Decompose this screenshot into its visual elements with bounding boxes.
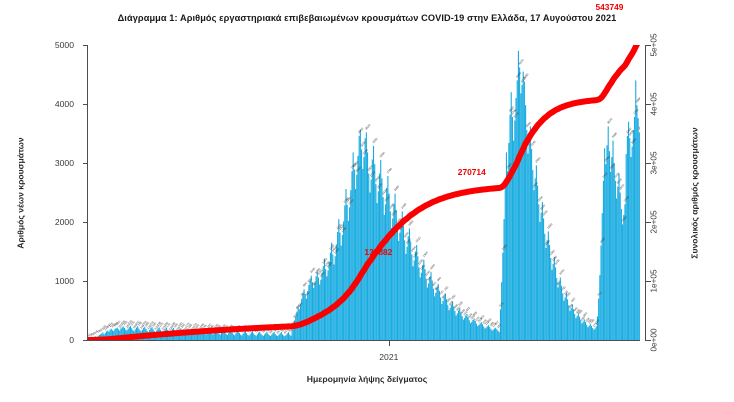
plot-area: 1218356470961301201601751651852101602152… [88, 45, 640, 340]
y-axis-left-tick-label: 2000 [22, 217, 74, 227]
bar [402, 211, 403, 340]
bar [397, 226, 398, 340]
bar [341, 246, 342, 340]
bar [418, 267, 419, 340]
bar-value-label: 3100 [362, 148, 370, 156]
y-axis-left-tick-label: 5000 [22, 40, 74, 50]
bar [357, 156, 358, 340]
bar [611, 157, 612, 340]
bar-value-label: 3290 [371, 136, 379, 144]
bar [338, 219, 339, 340]
bar-value-label: 535 [458, 300, 464, 307]
bar [624, 204, 625, 340]
bar [622, 224, 623, 340]
bar [393, 204, 394, 340]
bar-value-label: 600 [570, 296, 576, 303]
bar [628, 122, 629, 340]
bar [542, 202, 543, 340]
bar [512, 117, 513, 340]
bar [403, 226, 404, 340]
bar-value-label: 650 [450, 293, 456, 300]
bar-value-label: 1150 [429, 263, 436, 271]
bar [384, 215, 385, 340]
y-axis-label-left: Αριθμός νέων κρουσμάτων [14, 45, 28, 340]
bar [440, 298, 441, 340]
bar [460, 312, 461, 340]
bar [569, 311, 570, 340]
bar [559, 283, 560, 340]
bar [454, 311, 455, 340]
bar [305, 294, 306, 340]
bar [538, 204, 539, 340]
bar [411, 254, 412, 340]
bar [539, 222, 540, 340]
bar [366, 132, 367, 340]
bar [521, 85, 522, 340]
bar [577, 316, 578, 340]
bar-group [88, 51, 640, 340]
bar [615, 181, 616, 340]
y-axis-right [645, 45, 652, 340]
bar-value-label: 1610 [414, 236, 422, 244]
bar [307, 291, 308, 340]
bar [480, 323, 481, 340]
x-axis-spine [88, 340, 640, 341]
bar-value-label: 790 [443, 285, 449, 292]
x-axis-tick [389, 340, 390, 346]
bar [327, 270, 328, 340]
bar [434, 296, 435, 340]
cumulative-value-annotation: 543749 [595, 2, 623, 12]
bar [602, 213, 603, 340]
bar [635, 80, 636, 340]
bar-value-label: 2300 [623, 195, 631, 203]
y-axis-left-tick-label: 0 [22, 335, 74, 345]
x-axis-tick-label: 2021 [379, 352, 398, 362]
bar [360, 130, 361, 340]
bar [580, 320, 581, 340]
bar [355, 189, 356, 340]
bar-value-label: 3050 [379, 151, 387, 159]
bar-value-label: 1360 [422, 250, 430, 258]
bar [468, 317, 469, 340]
bar [426, 279, 427, 340]
bar [565, 298, 566, 340]
bar [496, 329, 497, 340]
bar-value-label: 1580 [405, 237, 413, 245]
bar [633, 130, 634, 340]
bar-value-label: 3780 [632, 108, 640, 116]
bar [245, 331, 246, 340]
bar [583, 322, 584, 340]
bar [603, 181, 604, 340]
bar [415, 252, 416, 341]
bar [456, 316, 457, 340]
bar [424, 269, 425, 340]
cumulative-value-annotation: 135882 [364, 247, 392, 257]
bar [350, 190, 351, 340]
bar [586, 325, 587, 340]
bar [457, 313, 458, 340]
bar-value-label: 2300 [383, 195, 391, 203]
bar [272, 333, 273, 340]
bar [417, 256, 418, 340]
bar [502, 253, 503, 340]
bar [489, 327, 490, 340]
bar [490, 329, 491, 340]
bar [310, 280, 311, 340]
bar [514, 121, 515, 340]
bar [311, 276, 312, 340]
bar [377, 203, 378, 340]
bar [405, 254, 406, 340]
bar [343, 221, 344, 340]
bar [481, 322, 482, 340]
bar [488, 325, 489, 340]
bar [446, 299, 447, 340]
bar [317, 272, 318, 340]
chart-title: Διάγραμμα 1: Αριθμός εργαστηριακά επιβεβ… [0, 13, 734, 23]
bar [554, 257, 555, 340]
bar [409, 228, 410, 340]
bar [478, 325, 479, 340]
bar [563, 301, 564, 340]
bar [561, 286, 562, 340]
bar [304, 289, 305, 340]
bar [347, 205, 348, 340]
bar-value-label: 3520 [364, 123, 372, 131]
bar [204, 333, 205, 340]
bar [609, 151, 610, 340]
bar [465, 316, 466, 340]
x-axis-label: Ημερομηνία λήψης δείγματος [0, 374, 734, 384]
bar [591, 326, 592, 340]
bar [614, 163, 615, 340]
bar [556, 278, 557, 340]
bar [573, 309, 574, 340]
bar [475, 321, 476, 340]
bar [447, 305, 448, 340]
bar [429, 277, 430, 340]
bar [493, 330, 494, 340]
bar [599, 275, 600, 340]
bar [423, 260, 424, 340]
chart-root: Διάγραμμα 1: Αριθμός εργαστηριακά επιβεβ… [0, 0, 734, 402]
bar [325, 269, 326, 340]
bar [590, 324, 591, 340]
bar [232, 333, 233, 340]
bar [318, 277, 319, 340]
bar [612, 141, 613, 340]
bar [571, 308, 572, 340]
bar [225, 332, 226, 340]
plot-inner: 1218356470961301201601751651852101602152… [88, 45, 640, 340]
bar [544, 234, 545, 340]
bar-value-label: 1600 [599, 236, 607, 244]
bar [505, 184, 506, 340]
bar [555, 267, 556, 340]
bar [398, 241, 399, 340]
bar [385, 204, 386, 340]
bar [391, 228, 392, 340]
bar [228, 333, 229, 340]
bar [524, 82, 525, 340]
bar [420, 277, 421, 340]
bar [592, 328, 593, 340]
bar [444, 297, 445, 340]
bar [416, 245, 417, 340]
bar [395, 194, 396, 340]
bar [332, 254, 333, 340]
bar [463, 320, 464, 340]
bar [386, 188, 387, 340]
bar [229, 331, 230, 340]
bar [519, 67, 520, 340]
bar [472, 320, 473, 340]
bar-value-label: 1060 [558, 268, 566, 276]
bar [486, 328, 487, 340]
bar [221, 333, 222, 340]
bar-value-label: 2520 [376, 182, 384, 190]
bar [531, 149, 532, 340]
bar [258, 333, 259, 340]
bar [471, 322, 472, 340]
bar [450, 308, 451, 340]
bar [399, 233, 400, 340]
bar [324, 259, 325, 340]
bar [638, 118, 639, 340]
bar [515, 98, 516, 340]
bar [578, 313, 579, 340]
bar [442, 301, 443, 340]
bar-value-label: 350 [582, 311, 588, 318]
bar [548, 231, 549, 340]
bar [353, 152, 354, 340]
bar [336, 244, 337, 340]
bar [251, 332, 252, 340]
bar-value-label: 3280 [630, 137, 638, 145]
bar [281, 332, 282, 340]
bar [504, 219, 505, 340]
bar [383, 197, 384, 340]
bar [551, 270, 552, 340]
bar [553, 264, 554, 340]
bar [507, 171, 508, 340]
bar [466, 314, 467, 340]
bar [329, 262, 330, 340]
bar [239, 333, 240, 340]
bar [316, 276, 317, 340]
bar [630, 157, 631, 340]
bar [345, 189, 346, 340]
bar [494, 329, 495, 340]
bar [562, 293, 563, 340]
bar [421, 273, 422, 340]
bar [361, 149, 362, 340]
cumulative-value-annotation: 270714 [458, 167, 486, 177]
bar [354, 169, 355, 340]
bar-value-label: 2780 [386, 167, 394, 175]
bar [314, 283, 315, 340]
bar [585, 322, 586, 340]
bar [487, 326, 488, 340]
bar [545, 248, 546, 340]
bar [214, 333, 215, 340]
bar-value-label: 950 [436, 276, 442, 283]
bar [530, 126, 531, 340]
bar [428, 283, 429, 340]
bar [339, 233, 340, 340]
bar [484, 329, 485, 341]
bar-value-label: 3380 [611, 131, 619, 139]
bar [533, 190, 534, 340]
bar-value-label: 1480 [501, 243, 509, 251]
bar [389, 194, 390, 340]
bar [492, 331, 493, 341]
bar [575, 318, 576, 340]
bar [529, 141, 530, 340]
bar [517, 80, 518, 340]
bar [617, 187, 618, 340]
y-axis-left-tick-label: 1000 [22, 276, 74, 286]
bar [422, 265, 423, 340]
bar [252, 331, 253, 340]
bar [610, 172, 611, 340]
bar [365, 138, 366, 340]
bar [587, 327, 588, 340]
bar [462, 316, 463, 340]
bar [483, 327, 484, 340]
bar [412, 266, 413, 340]
bar [439, 291, 440, 340]
bar [623, 215, 624, 340]
bar-value-label: 442 [465, 306, 471, 313]
bar [629, 138, 630, 340]
bar [427, 287, 428, 340]
bar [543, 218, 544, 340]
bar [453, 306, 454, 340]
bar [535, 178, 536, 340]
bar [378, 191, 379, 340]
y-axis-left-tick-label: 4000 [22, 99, 74, 109]
bar [313, 288, 314, 340]
bar-value-label: 3620 [606, 117, 614, 125]
x-axis [88, 340, 640, 348]
bar-value-label: 2180 [400, 202, 408, 210]
bar [404, 240, 405, 340]
bar [568, 305, 569, 340]
bar [274, 332, 275, 340]
bar [236, 332, 237, 340]
bar [498, 331, 499, 340]
bar [331, 243, 332, 340]
bar [435, 293, 436, 340]
bar [474, 318, 475, 340]
bar [523, 72, 524, 340]
bar [639, 132, 640, 340]
bar [342, 235, 343, 340]
bar [527, 154, 528, 340]
bar [441, 304, 442, 340]
bar [482, 324, 483, 340]
bar [408, 236, 409, 340]
bar [287, 333, 288, 340]
bar [618, 174, 619, 340]
bar [550, 258, 551, 340]
bar [469, 320, 470, 340]
bar [407, 247, 408, 340]
bar [381, 178, 382, 340]
bar [495, 328, 496, 340]
bar [596, 326, 597, 340]
bar [433, 289, 434, 340]
bar [560, 277, 561, 340]
bar [627, 136, 628, 340]
y-axis-right-spine [645, 45, 646, 340]
bar [259, 331, 260, 340]
bar [520, 93, 521, 340]
bar [501, 282, 502, 340]
bar [557, 287, 558, 340]
bar [621, 209, 622, 340]
bar [532, 170, 533, 340]
bar [470, 323, 471, 340]
bar [526, 130, 527, 340]
bar [246, 333, 247, 340]
bar [351, 171, 352, 340]
bar [632, 146, 633, 340]
bar [595, 329, 596, 341]
bar-value-label: 2700 [601, 171, 609, 179]
bar [280, 333, 281, 340]
bar [244, 332, 245, 340]
bar [430, 272, 431, 340]
bar [499, 332, 500, 340]
bar [266, 332, 267, 340]
bar [320, 280, 321, 340]
bar [362, 169, 363, 340]
bar [518, 51, 519, 340]
bar [566, 293, 567, 340]
bar [458, 311, 459, 341]
chart-canvas: 1218356470961301201601751651852101602152… [88, 45, 640, 340]
bar [401, 220, 402, 340]
bar [616, 198, 617, 340]
bar [335, 256, 336, 340]
bar [312, 282, 313, 340]
bar [626, 154, 627, 340]
y-axis-left-tick-label: 3000 [22, 158, 74, 168]
bar [302, 293, 303, 340]
bar [451, 304, 452, 340]
bar [620, 193, 621, 341]
bar [349, 207, 350, 340]
bar [436, 287, 437, 340]
bar [323, 266, 324, 340]
bar [511, 92, 512, 340]
bar [593, 330, 594, 340]
bar [605, 164, 606, 340]
bar [584, 319, 585, 340]
bar [634, 117, 635, 340]
bar [464, 318, 465, 340]
bar [375, 184, 376, 340]
bar [589, 326, 590, 340]
bar [476, 324, 477, 340]
bar [356, 175, 357, 340]
bar [536, 165, 537, 340]
y-axis-label-right-text: Συνολικός αριθμός κρουσμάτων [690, 127, 700, 258]
